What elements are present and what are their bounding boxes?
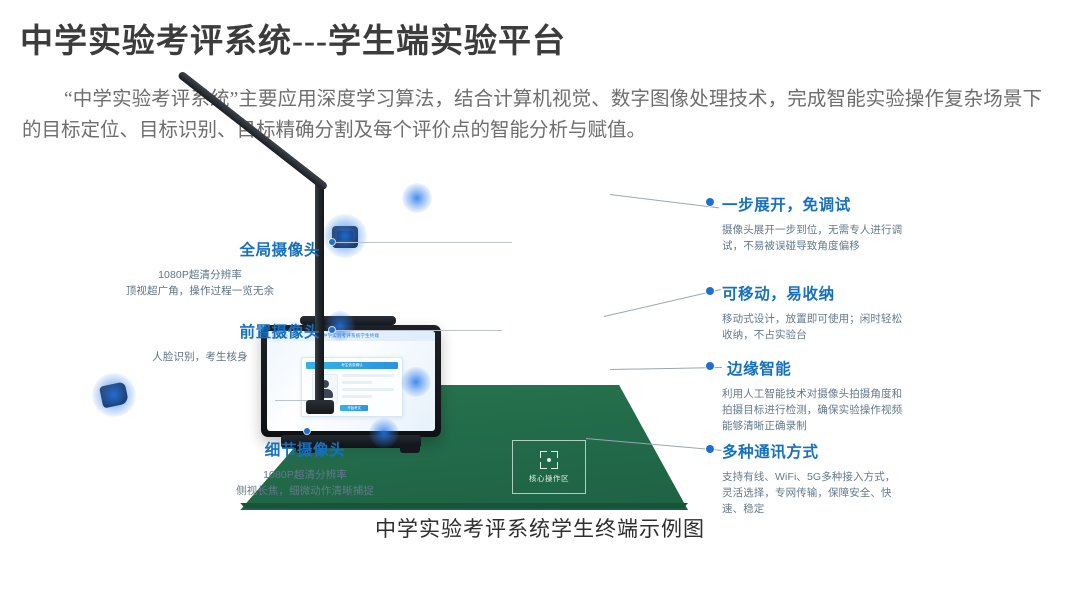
lead-line-detail-camera <box>275 400 307 401</box>
callout-edge-intelligence-title: 边缘智能 <box>727 357 904 379</box>
callout-one-step-deploy: 一步展开，免调试 摄像头展开一步到位，无需专人进行调试，不易被误碰导致角度偏移 <box>722 193 904 254</box>
dot-detail-camera <box>304 428 310 434</box>
callout-movable-storable-body: 移动式设计，放置即可使用；闲时轻松收纳，不占实验台 <box>722 311 904 343</box>
dot-movable <box>706 287 714 295</box>
callout-front-camera-title: 前置摄像头 <box>80 320 320 342</box>
dot-one-step <box>706 198 714 206</box>
callout-edge-intelligence: 边缘智能 利用人工智能技术对摄像头拍摄角度和拍摄目标进行检测，确保实验操作视频能… <box>722 357 904 434</box>
callout-line: 1080P超清分辨率 <box>80 267 320 283</box>
callout-line: 1080P超清分辨率 <box>185 467 425 483</box>
callout-one-step-deploy-title: 一步展开，免调试 <box>722 193 904 215</box>
callout-detail-camera-body: 1080P超清分辨率 侧视长焦，细微动作清晰捕捉 <box>185 467 425 499</box>
callout-global-camera-title: 全局摄像头 <box>80 238 320 260</box>
callout-movable-storable: 可移动，易收纳 移动式设计，放置即可使用；闲时轻松收纳，不占实验台 <box>722 282 904 343</box>
dot-global-camera <box>329 239 335 245</box>
page-title: 中学实验考评系统---学生端实验平台 <box>20 14 566 62</box>
callout-global-camera-body: 1080P超清分辨率 顶视超广角，操作过程一览无余 <box>80 267 320 299</box>
callout-line: 顶视超广角，操作过程一览无余 <box>80 283 320 299</box>
screen-app-title: 中学实验考评系统学生终端 <box>323 333 379 339</box>
lead-line-global-camera <box>336 242 512 243</box>
callout-detail-camera-title: 细节摄像头 <box>185 438 425 460</box>
dot-front-camera <box>329 327 335 333</box>
detail-camera-module <box>99 382 129 409</box>
intro-paragraph: “中学实验考评系统”主要应用深度学习算法，结合计算机视觉、数字图像处理技术，完成… <box>22 84 1042 146</box>
callout-edge-intelligence-body: 利用人工智能技术对摄像头拍摄角度和拍摄目标进行检测，确保实验操作视频能够清晰正确… <box>722 386 904 434</box>
global-camera-module <box>332 226 358 248</box>
callout-multi-comm: 多种通讯方式 支持有线、WiFi、5G多种接入方式，灵活选择，专网传输，保障安全… <box>722 440 904 517</box>
camera-pole-foot <box>306 400 334 414</box>
dot-comm <box>706 445 714 453</box>
callout-global-camera: 全局摄像头 1080P超清分辨率 顶视超广角，操作过程一览无余 <box>80 238 320 299</box>
callout-one-step-deploy-body: 摄像头展开一步到位，无需专人进行调试，不易被误碰导致角度偏移 <box>722 222 904 254</box>
callout-multi-comm-title: 多种通讯方式 <box>722 440 904 462</box>
callout-line: 侧视长焦，细微动作清晰捕捉 <box>185 483 425 499</box>
slide-root: 中学实验考评系统---学生端实验平台 “中学实验考评系统”主要应用深度学习算法，… <box>0 0 1080 608</box>
lead-line-front-camera <box>336 330 502 331</box>
callout-detail-camera: 细节摄像头 1080P超清分辨率 侧视长焦，细微动作清晰捕捉 <box>185 438 425 499</box>
green-mat-edge <box>196 503 688 513</box>
reticle-icon <box>540 451 558 469</box>
callout-multi-comm-body: 支持有线、WiFi、5G多种接入方式，灵活选择，专网传输，保障安全、快速、稳定 <box>722 469 904 517</box>
hotspot-arm-joint <box>402 183 432 213</box>
core-zone-label: 核心操作区 <box>529 473 569 484</box>
callout-front-camera: 前置摄像头 人脸识别，考生核身 <box>80 320 320 365</box>
core-operation-zone: 核心操作区 <box>512 440 586 494</box>
start-exam-button: 开始考试 <box>340 405 368 411</box>
callout-front-camera-body: 人脸识别，考生核身 <box>80 349 320 365</box>
card-info-rows <box>342 374 394 402</box>
callout-movable-storable-title: 可移动，易收纳 <box>722 282 904 304</box>
figure-caption: 中学实验考评系统学生终端示例图 <box>0 513 1080 543</box>
dot-edge <box>706 362 714 370</box>
